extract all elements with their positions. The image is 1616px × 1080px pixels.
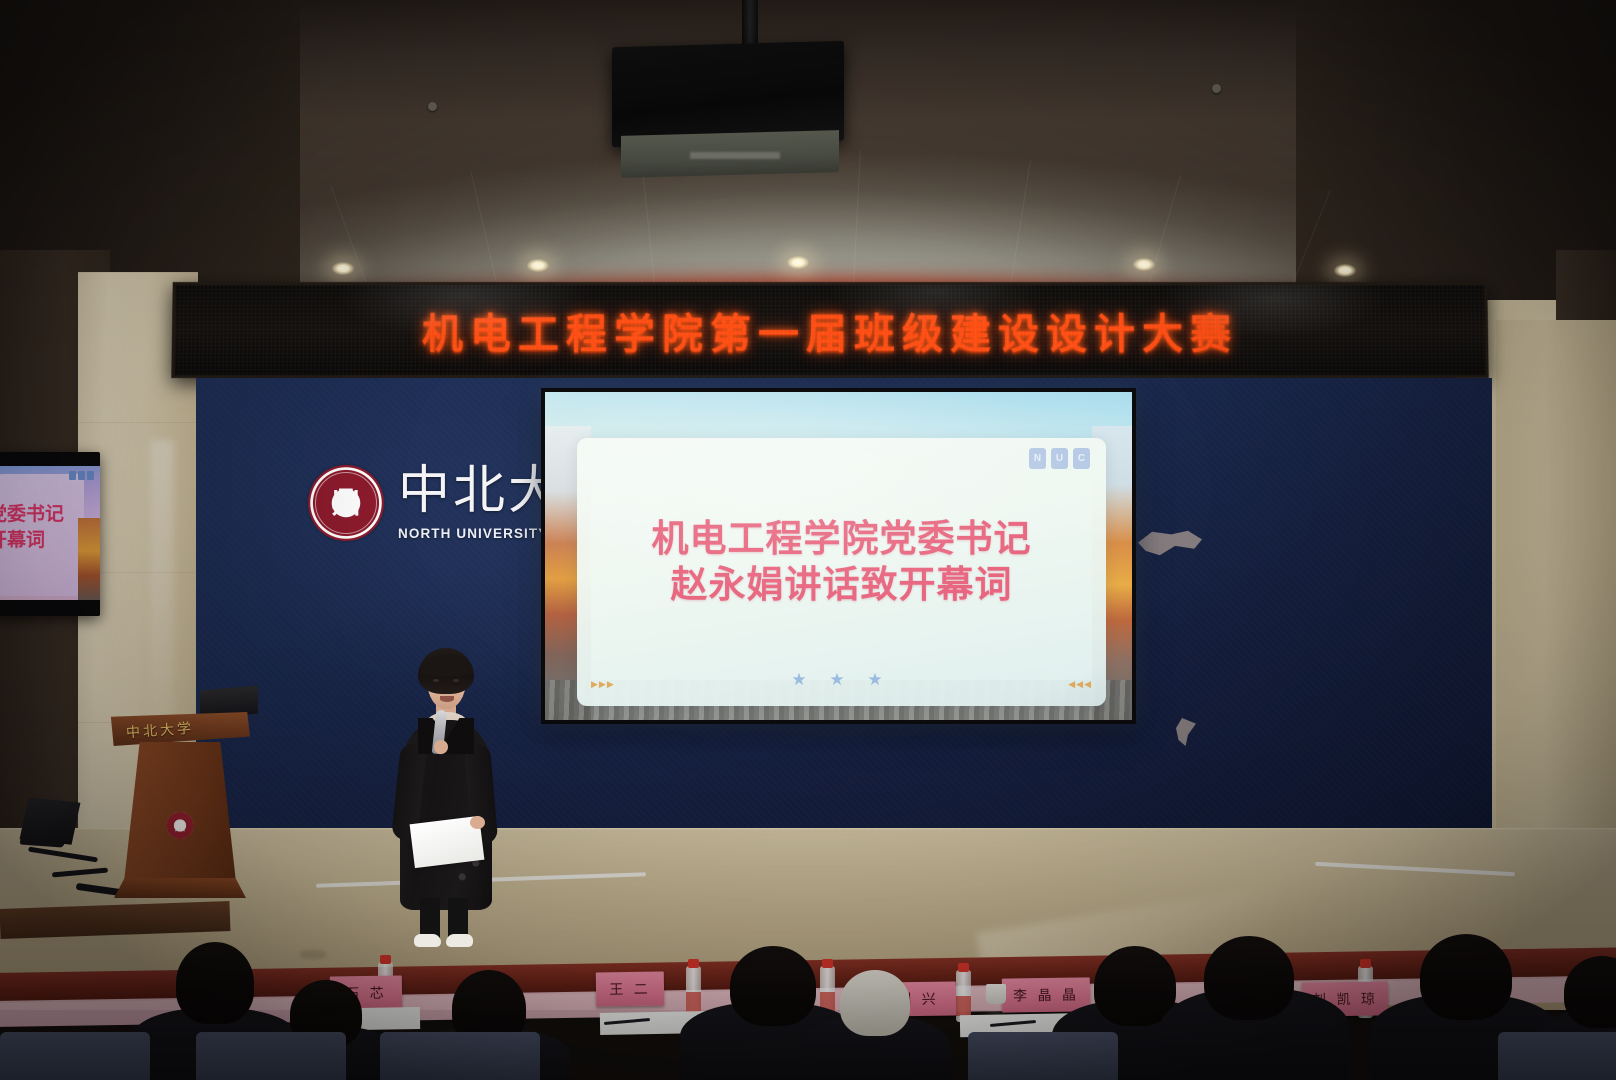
university-seal-icon bbox=[308, 465, 384, 541]
podium-laptop bbox=[20, 797, 81, 844]
chair-back bbox=[968, 1032, 1118, 1080]
podium-body bbox=[124, 742, 236, 882]
side-monitor: 党委书记 开幕词 bbox=[0, 452, 100, 616]
podium-top-surface: 中北大学 bbox=[108, 712, 250, 746]
audience-area: 石 芯 王 二 李 晶 晶 刘 兴 刘 凯 琼 bbox=[0, 930, 1616, 1080]
side-monitor-badges bbox=[69, 471, 94, 480]
monitor-badge-u bbox=[78, 471, 85, 480]
side-monitor-text: 党委书记 开幕词 bbox=[0, 502, 96, 553]
projector-mount-rod bbox=[742, 0, 758, 48]
audience-head bbox=[730, 946, 816, 1026]
water-bottle bbox=[686, 966, 701, 1018]
ceiling-downlight bbox=[1133, 258, 1155, 271]
paper-cup bbox=[986, 984, 1006, 1004]
speaker-eye-left bbox=[433, 679, 439, 682]
podium-emblem-icon bbox=[167, 812, 194, 839]
nuc-badge-u: U bbox=[1051, 448, 1068, 469]
audience-head bbox=[1094, 946, 1176, 1026]
speaker-shoe-right bbox=[446, 934, 473, 947]
side-monitor-line-1: 党委书记 bbox=[0, 502, 96, 528]
monitor-badge-n bbox=[69, 471, 76, 480]
speaker-eye-right bbox=[453, 679, 459, 682]
speaker-shoe-left bbox=[414, 934, 441, 947]
slide-title-line-2: 赵永娟讲话致开幕词 bbox=[577, 562, 1106, 608]
side-monitor-bezel bbox=[0, 600, 100, 616]
seal-inner-ring bbox=[315, 472, 377, 534]
slide-content-card: N U C 机电工程学院党委书记 赵永娟讲话致开幕词 ▶▶▶ ◀◀◀ ★ ★ ★ bbox=[577, 438, 1106, 706]
projection-screen: N U C 机电工程学院党委书记 赵永娟讲话致开幕词 ▶▶▶ ◀◀◀ ★ ★ ★ bbox=[541, 388, 1136, 724]
nuc-badge-n: N bbox=[1029, 448, 1046, 469]
speaker-presenter bbox=[390, 648, 500, 938]
slide-title: 机电工程学院党委书记 赵永娟讲话致开幕词 bbox=[577, 516, 1106, 608]
chair-back bbox=[196, 1032, 346, 1080]
audience-head bbox=[1204, 936, 1294, 1020]
audience-head bbox=[176, 942, 254, 1024]
slide-title-line-1: 机电工程学院党委书记 bbox=[652, 517, 1032, 560]
name-card-text: 王 二 bbox=[609, 979, 651, 1000]
slide-stars-decoration: ★ ★ ★ bbox=[577, 670, 1106, 690]
monitor-badge-c bbox=[87, 471, 94, 480]
ceiling-downlight bbox=[1334, 264, 1356, 277]
speaker-hand-holding-paper bbox=[470, 816, 485, 829]
projected-slide: N U C 机电工程学院党委书记 赵永娟讲话致开幕词 ▶▶▶ ◀◀◀ ★ ★ ★ bbox=[545, 392, 1132, 720]
auditorium-photo: 机电工程学院第一届班级建设设计大赛 中北大学 NORTH UNIVERSITY … bbox=[0, 0, 1616, 1080]
name-card-text: 李 晶 晶 bbox=[1013, 985, 1079, 1006]
podium-label: 中北大学 bbox=[125, 718, 194, 743]
slide-nuc-badges: N U C bbox=[1029, 448, 1090, 469]
audience-head bbox=[1420, 934, 1512, 1020]
side-monitor-line-2: 开幕词 bbox=[0, 528, 96, 554]
ceiling-smoke-detector bbox=[1212, 84, 1221, 93]
ceiling-smoke-detector bbox=[428, 102, 437, 111]
chair-back bbox=[380, 1032, 540, 1080]
ceiling-downlight bbox=[787, 256, 809, 269]
side-monitor-screen: 党委书记 开幕词 bbox=[0, 466, 100, 600]
speaker-hand-holding-mic bbox=[434, 740, 448, 754]
column-reflection bbox=[150, 440, 174, 740]
audience-head bbox=[840, 970, 910, 1036]
led-banner: 机电工程学院第一届班级建设设计大赛 bbox=[171, 282, 1488, 378]
podium-base bbox=[114, 878, 246, 898]
name-card: 李 晶 晶 bbox=[1002, 977, 1090, 1012]
speaker-mouth bbox=[440, 696, 454, 702]
university-logo: 中北大学 NORTH UNIVERSITY OF CHI bbox=[308, 450, 568, 555]
led-banner-text: 机电工程学院第一届班级建设设计大赛 bbox=[175, 300, 1486, 360]
ceiling-downlight bbox=[332, 262, 354, 275]
projector-label bbox=[690, 152, 780, 159]
ceiling-downlight bbox=[527, 259, 549, 272]
nuc-badge-c: C bbox=[1073, 448, 1090, 469]
chair-back bbox=[0, 1032, 150, 1080]
chair-back bbox=[1498, 1032, 1616, 1080]
podium: 中北大学 bbox=[108, 712, 250, 900]
name-card: 王 二 bbox=[596, 972, 664, 1007]
